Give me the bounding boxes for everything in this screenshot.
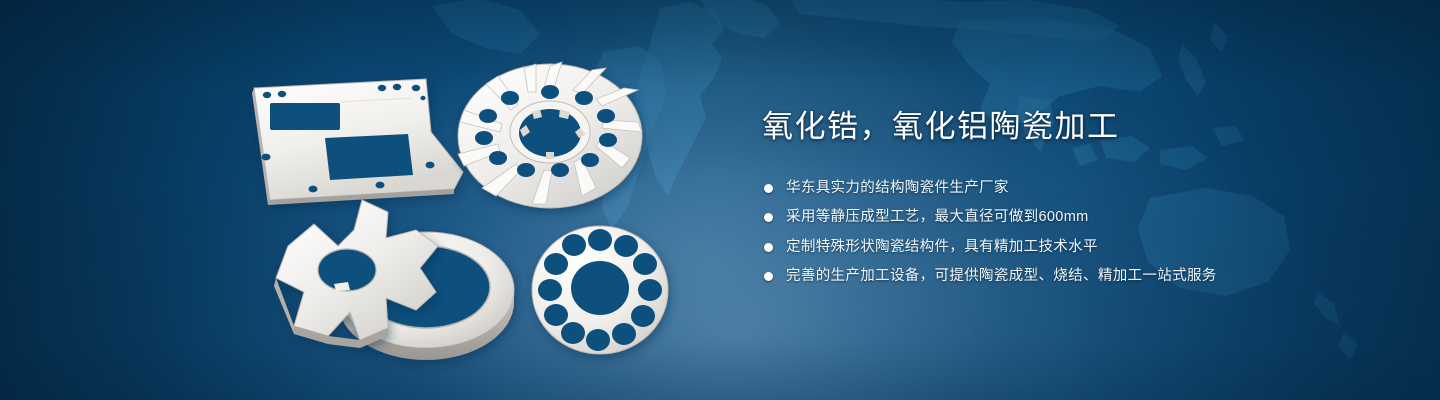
bullet-dot-icon — [764, 272, 773, 281]
banner-copy: 氧化锆，氧化铝陶瓷加工 华东具实力的结构陶瓷件生产厂家 采用等静压成型工艺，最大… — [762, 108, 1382, 295]
list-item: 华东具实力的结构陶瓷件生产厂家 — [762, 177, 1382, 199]
bullet-dot-icon — [764, 243, 773, 252]
feature-list: 华东具实力的结构陶瓷件生产厂家 采用等静压成型工艺，最大直径可做到600mm 定… — [762, 177, 1382, 288]
ceramic-impeller-disc — [458, 62, 642, 208]
bullet-dot-icon — [764, 213, 773, 222]
product-banner: 氧化锆，氧化铝陶瓷加工 华东具实力的结构陶瓷件生产厂家 采用等静压成型工艺，最大… — [0, 0, 1440, 400]
list-item-label: 华东具实力的结构陶瓷件生产厂家 — [786, 180, 1009, 196]
page-title: 氧化锆，氧化铝陶瓷加工 — [762, 108, 1382, 147]
list-item: 定制特殊形状陶瓷结构件，具有精加工技术水平 — [762, 236, 1382, 258]
ceramic-parts-photo — [230, 40, 710, 385]
ceramic-machined-plate — [252, 79, 463, 205]
list-item-label: 定制特殊形状陶瓷结构件，具有精加工技术水平 — [786, 239, 1098, 255]
list-item: 采用等静压成型工艺，最大直径可做到600mm — [762, 206, 1382, 228]
list-item: 完善的生产加工设备，可提供陶瓷成型、烧结、精加工一站式服务 — [762, 265, 1382, 287]
ceramic-perforated-disc — [532, 226, 668, 354]
ceramic-parts-illustration — [230, 40, 710, 385]
bullet-dot-icon — [764, 184, 773, 193]
list-item-label: 采用等静压成型工艺，最大直径可做到600mm — [786, 209, 1089, 225]
list-item-label: 完善的生产加工设备，可提供陶瓷成型、烧结、精加工一站式服务 — [786, 268, 1217, 284]
